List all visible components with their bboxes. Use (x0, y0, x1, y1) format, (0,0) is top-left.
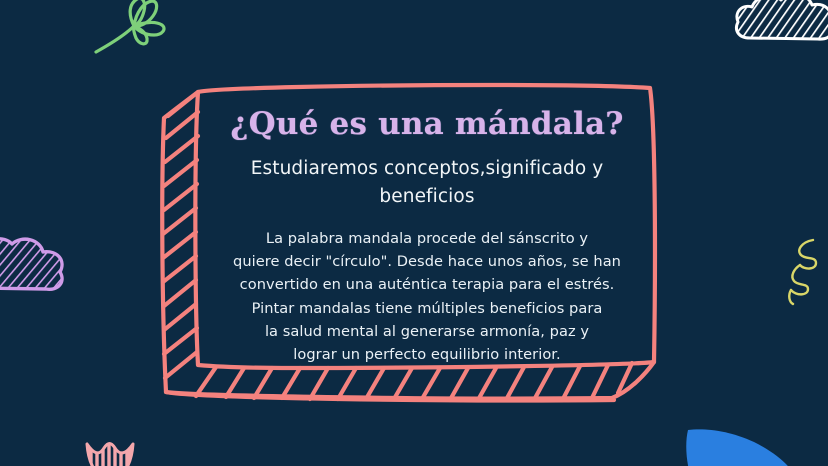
blue-half-circle-icon (684, 424, 800, 466)
page-title: ¿Qué es una mándala? (212, 88, 642, 141)
content-card-frame: ¿Qué es una mándala? Estudiaremos concep… (152, 62, 676, 418)
yellow-curly-squiggle-icon (780, 236, 824, 316)
white-hatched-cloud-icon (732, 0, 828, 58)
body-paragraph: La palabra mandala procede del sánscrito… (216, 227, 638, 367)
slide-canvas: ¿Qué es una mándala? Estudiaremos concep… (0, 0, 828, 466)
pink-striped-fan-icon (82, 436, 138, 466)
card-text-block: ¿Qué es una mándala? Estudiaremos concep… (212, 88, 642, 388)
page-subtitle: Estudiaremos conceptos,significado y ben… (218, 155, 636, 211)
purple-hatched-cloud-icon (0, 228, 76, 308)
green-leaf-doodle-icon (88, 0, 188, 60)
